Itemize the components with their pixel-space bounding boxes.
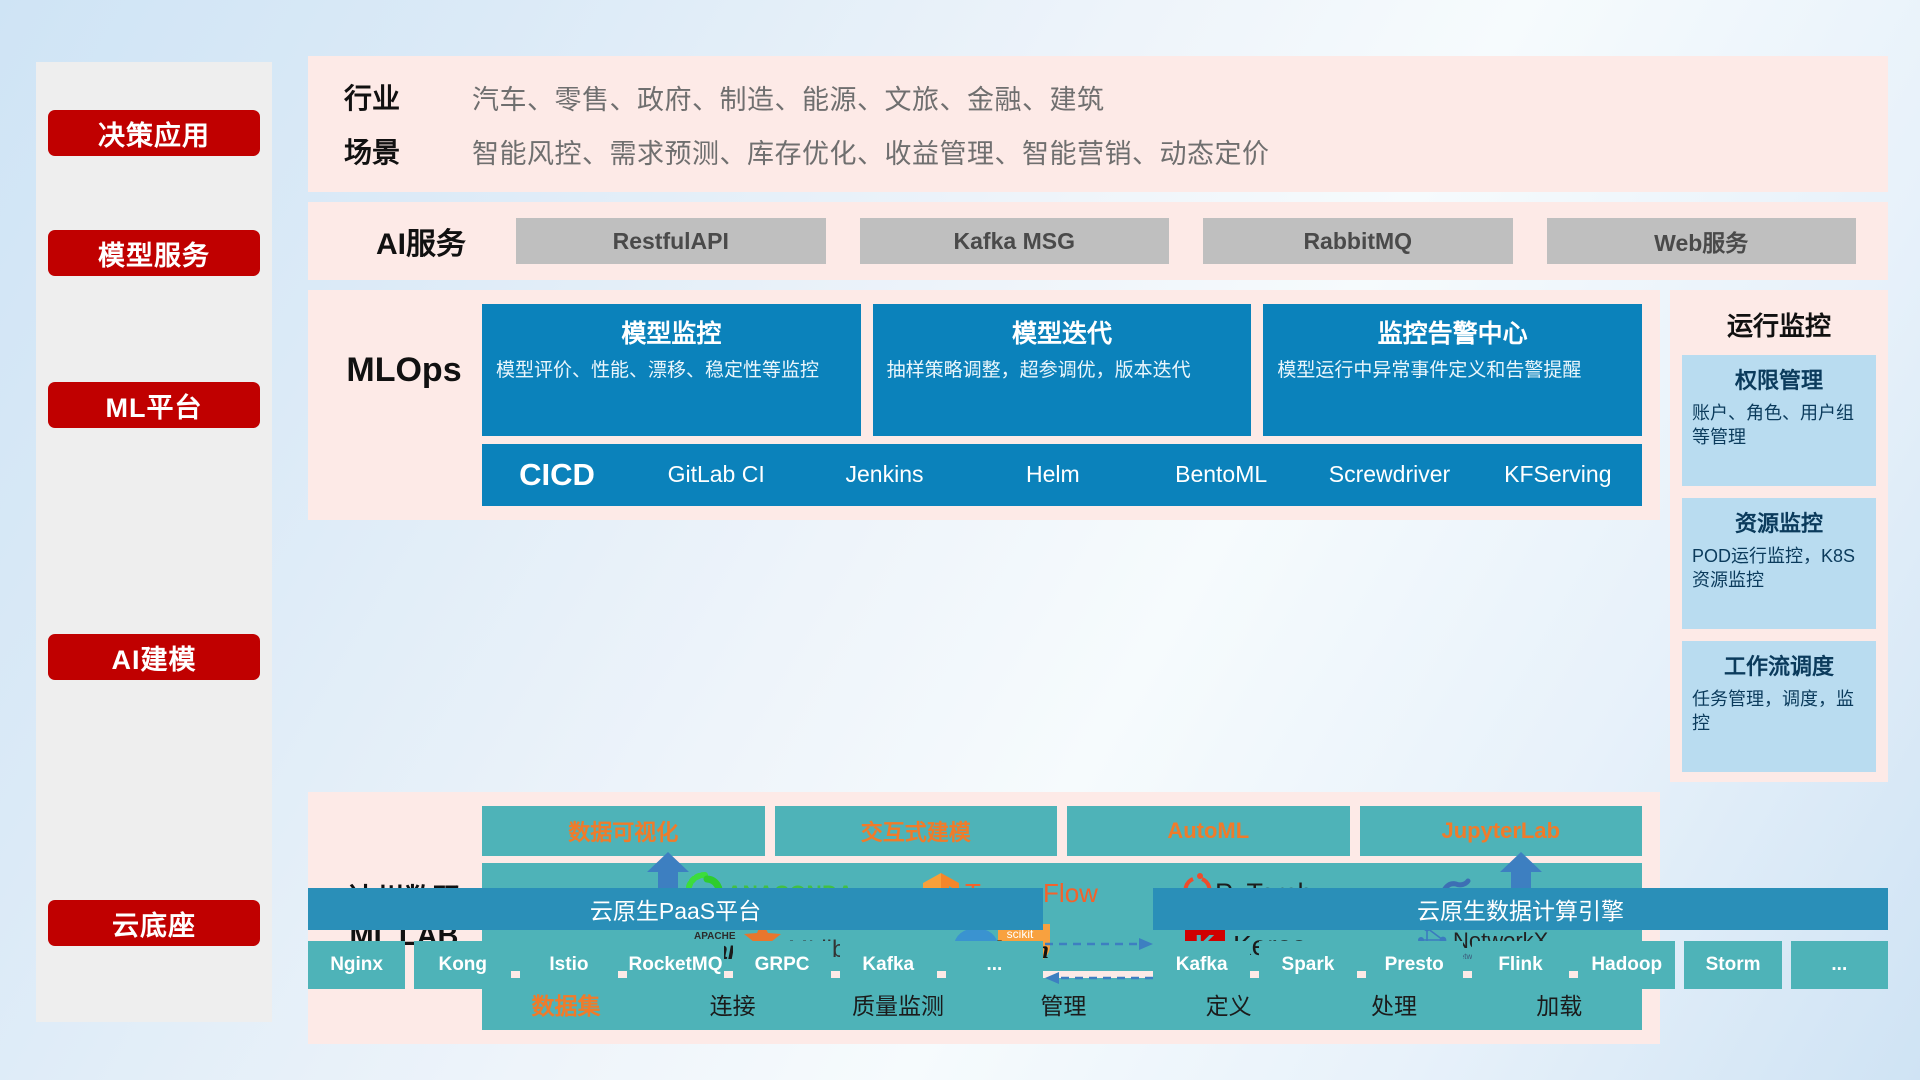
cloud-chip-storm[interactable]: Storm bbox=[1684, 941, 1781, 989]
ai-service-chip-list: RestfulAPI Kafka MSG RabbitMQ Web服务 bbox=[496, 218, 1864, 264]
band-ai-service: AI服务 RestfulAPI Kafka MSG RabbitMQ Web服务 bbox=[308, 202, 1888, 280]
cicd-item-screwdriver[interactable]: Screwdriver bbox=[1305, 462, 1473, 487]
band-cloud-base: 云原生PaaS平台 Nginx Kong Istio RocketMQ GRPC… bbox=[308, 888, 1888, 1028]
cloud-chip-hadoop[interactable]: Hadoop bbox=[1578, 941, 1675, 989]
cloud-chip-more-left[interactable]: ... bbox=[946, 941, 1043, 989]
card-body: 抽样策略调整，超参调优，版本迭代 bbox=[887, 358, 1238, 384]
cloud-chip-kafka-r[interactable]: Kafka bbox=[1153, 941, 1250, 989]
ai-service-title: AI服务 bbox=[346, 219, 496, 263]
mlops-card-alert-center[interactable]: 监控告警中心 模型运行中异常事件定义和告警提醒 bbox=[1263, 304, 1642, 436]
band-decision-application: 行业 汽车、零售、政府、制造、能源、文旅、金融、建筑 场景 智能风控、需求预测、… bbox=[308, 56, 1888, 192]
cicd-label: CICD bbox=[482, 457, 632, 493]
lab-tool-jupyterlab[interactable]: JupyterLab bbox=[1360, 806, 1643, 856]
cloud-chip-kafka[interactable]: Kafka bbox=[840, 941, 937, 989]
card-heading: 模型监控 bbox=[496, 314, 847, 350]
card-body: 任务管理，调度，监控 bbox=[1692, 687, 1866, 736]
monitoring-title: 运行监控 bbox=[1682, 306, 1876, 343]
service-chip-rabbitmq[interactable]: RabbitMQ bbox=[1203, 218, 1513, 264]
cicd-item-jenkins[interactable]: Jenkins bbox=[800, 462, 968, 487]
cloud-chip-grpc[interactable]: GRPC bbox=[733, 941, 830, 989]
mlops-card-list: 模型监控 模型评价、性能、漂移、稳定性等监控 模型迭代 抽样策略调整，超参调优，… bbox=[482, 304, 1642, 436]
cloud-compute-chip-list: Kafka Spark Presto Flink Hadoop Storm ..… bbox=[1153, 941, 1888, 989]
card-body: POD运行监控，K8S资源监控 bbox=[1692, 544, 1866, 593]
cicd-item-kfserving[interactable]: KFServing bbox=[1474, 462, 1642, 487]
cloud-chip-presto[interactable]: Presto bbox=[1366, 941, 1463, 989]
lab-tool-list: 数据可视化 交互式建模 AutoML JupyterLab bbox=[482, 806, 1642, 856]
scenario-value: 智能风控、需求预测、库存优化、收益管理、智能营销、动态定价 bbox=[472, 132, 1270, 171]
monitor-card-permission[interactable]: 权限管理 账户、角色、用户组等管理 bbox=[1682, 355, 1876, 486]
mlops-title: MLOps bbox=[326, 304, 482, 436]
card-body: 模型评价、性能、漂移、稳定性等监控 bbox=[496, 358, 847, 384]
card-body: 账户、角色、用户组等管理 bbox=[1692, 401, 1866, 450]
cloud-paas-bar[interactable]: 云原生PaaS平台 bbox=[308, 888, 1043, 930]
service-chip-kafka-msg[interactable]: Kafka MSG bbox=[860, 218, 1170, 264]
up-arrow-left bbox=[645, 852, 691, 892]
cloud-paas-chip-list: Nginx Kong Istio RocketMQ GRPC Kafka ... bbox=[308, 941, 1043, 989]
monitoring-column: 运行监控 权限管理 账户、角色、用户组等管理 资源监控 POD运行监控，K8S资… bbox=[1670, 290, 1888, 782]
cloud-chip-kong[interactable]: Kong bbox=[414, 941, 511, 989]
cloud-chip-istio[interactable]: Istio bbox=[520, 941, 617, 989]
scenario-row: 场景 智能风控、需求预测、库存优化、收益管理、智能营销、动态定价 bbox=[344, 131, 1866, 171]
cloud-chip-spark[interactable]: Spark bbox=[1259, 941, 1356, 989]
industry-key: 行业 bbox=[344, 77, 472, 117]
cicd-item-gitlab-ci[interactable]: GitLab CI bbox=[632, 462, 800, 487]
card-heading: 监控告警中心 bbox=[1277, 314, 1628, 350]
mlops-card-model-iteration[interactable]: 模型迭代 抽样策略调整，超参调优，版本迭代 bbox=[873, 304, 1252, 436]
dashed-arrow-connector bbox=[1043, 930, 1155, 992]
band-mlops: MLOps 模型监控 模型评价、性能、漂移、稳定性等监控 模型迭代 抽样策略调整… bbox=[308, 290, 1660, 520]
rail-chip-ai-modeling[interactable]: AI建模 bbox=[48, 634, 260, 680]
service-chip-web[interactable]: Web服务 bbox=[1547, 218, 1857, 264]
service-chip-restfulapi[interactable]: RestfulAPI bbox=[516, 218, 826, 264]
architecture-diagram: 决策应用 模型服务 ML平台 AI建模 云底座 行业 汽车、零售、政府、制造、能… bbox=[0, 0, 1920, 1080]
rail-chip-cloud-base[interactable]: 云底座 bbox=[48, 900, 260, 946]
card-heading: 工作流调度 bbox=[1692, 649, 1866, 681]
cloud-chip-rocketmq[interactable]: RocketMQ bbox=[627, 941, 725, 989]
monitor-card-resource[interactable]: 资源监控 POD运行监控，K8S资源监控 bbox=[1682, 498, 1876, 629]
cloud-chip-more-right[interactable]: ... bbox=[1791, 941, 1888, 989]
monitor-card-workflow[interactable]: 工作流调度 任务管理，调度，监控 bbox=[1682, 641, 1876, 772]
lab-tool-data-visualization[interactable]: 数据可视化 bbox=[482, 806, 765, 856]
scenario-key: 场景 bbox=[344, 131, 472, 171]
cloud-chip-flink[interactable]: Flink bbox=[1472, 941, 1569, 989]
cloud-compute-group: 云原生数据计算引擎 Kafka Spark Presto Flink Hadoo… bbox=[1153, 888, 1888, 989]
layer-label-rail: 决策应用 模型服务 ML平台 AI建模 云底座 bbox=[36, 62, 272, 1022]
cicd-item-list: GitLab CI Jenkins Helm BentoML Screwdriv… bbox=[632, 462, 1642, 487]
cloud-paas-group: 云原生PaaS平台 Nginx Kong Istio RocketMQ GRPC… bbox=[308, 888, 1043, 989]
rail-chip-model-service[interactable]: 模型服务 bbox=[48, 230, 260, 276]
mlops-card-model-monitoring[interactable]: 模型监控 模型评价、性能、漂移、稳定性等监控 bbox=[482, 304, 861, 436]
up-arrow-right bbox=[1498, 852, 1544, 892]
rail-chip-decision-app[interactable]: 决策应用 bbox=[48, 110, 260, 156]
lab-tool-automl[interactable]: AutoML bbox=[1067, 806, 1350, 856]
card-heading: 资源监控 bbox=[1692, 506, 1866, 538]
cloud-chip-nginx[interactable]: Nginx bbox=[308, 941, 405, 989]
card-body: 模型运行中异常事件定义和告警提醒 bbox=[1277, 358, 1628, 384]
cloud-compute-bar[interactable]: 云原生数据计算引擎 bbox=[1153, 888, 1888, 930]
row-mlops: MLOps 模型监控 模型评价、性能、漂移、稳定性等监控 模型迭代 抽样策略调整… bbox=[308, 290, 1888, 782]
rail-chip-ml-platform[interactable]: ML平台 bbox=[48, 382, 260, 428]
cicd-item-bentoml[interactable]: BentoML bbox=[1137, 462, 1305, 487]
lab-tool-interactive-modeling[interactable]: 交互式建模 bbox=[775, 806, 1058, 856]
cicd-item-helm[interactable]: Helm bbox=[969, 462, 1137, 487]
industry-value: 汽车、零售、政府、制造、能源、文旅、金融、建筑 bbox=[472, 78, 1105, 117]
cicd-bar: CICD GitLab CI Jenkins Helm BentoML Scre… bbox=[482, 444, 1642, 506]
card-heading: 权限管理 bbox=[1692, 363, 1866, 395]
card-heading: 模型迭代 bbox=[887, 314, 1238, 350]
industry-row: 行业 汽车、零售、政府、制造、能源、文旅、金融、建筑 bbox=[344, 77, 1866, 117]
